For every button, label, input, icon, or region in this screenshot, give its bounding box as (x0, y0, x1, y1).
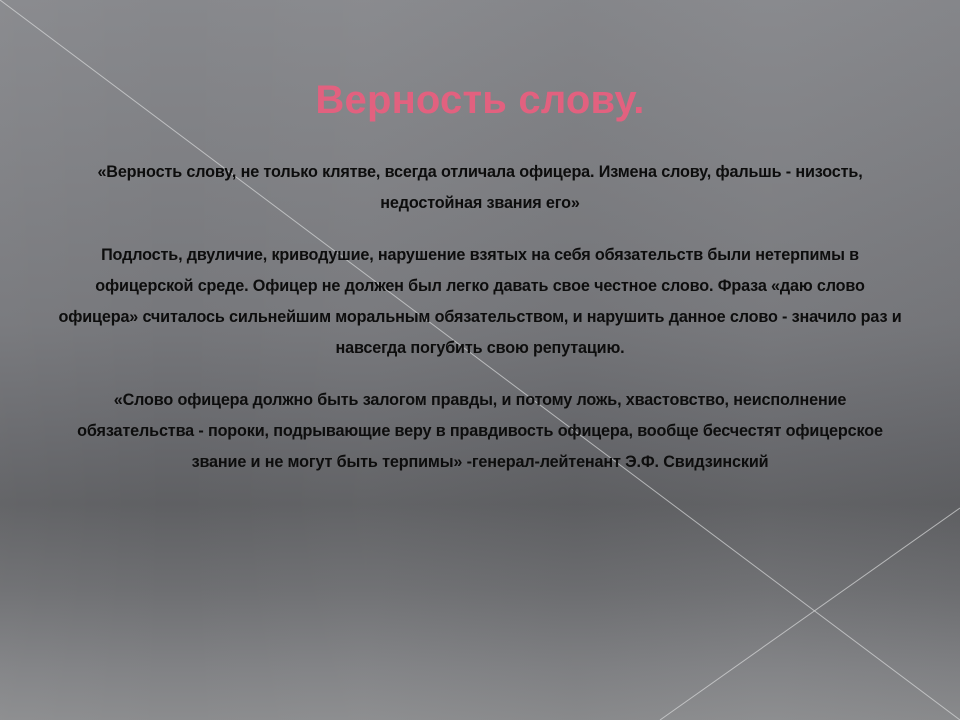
paragraph-quote-loyalty: «Верность слову, не только клятве, всегд… (54, 157, 906, 219)
presentation-slide: Верность слову. «Верность слову, не толь… (0, 0, 960, 720)
paragraph-quote-svidzinsky: «Слово офицера должно быть залогом правд… (54, 385, 906, 478)
slide-body: «Верность слову, не только клятве, всегд… (54, 157, 906, 478)
paragraph-body-meanness: Подлость, двуличие, криводушие, нарушени… (54, 240, 906, 364)
diagonal-line-ascending (660, 508, 960, 720)
slide-content: Верность слову. «Верность слову, не толь… (0, 0, 960, 478)
page-title: Верность слову. (0, 0, 960, 123)
